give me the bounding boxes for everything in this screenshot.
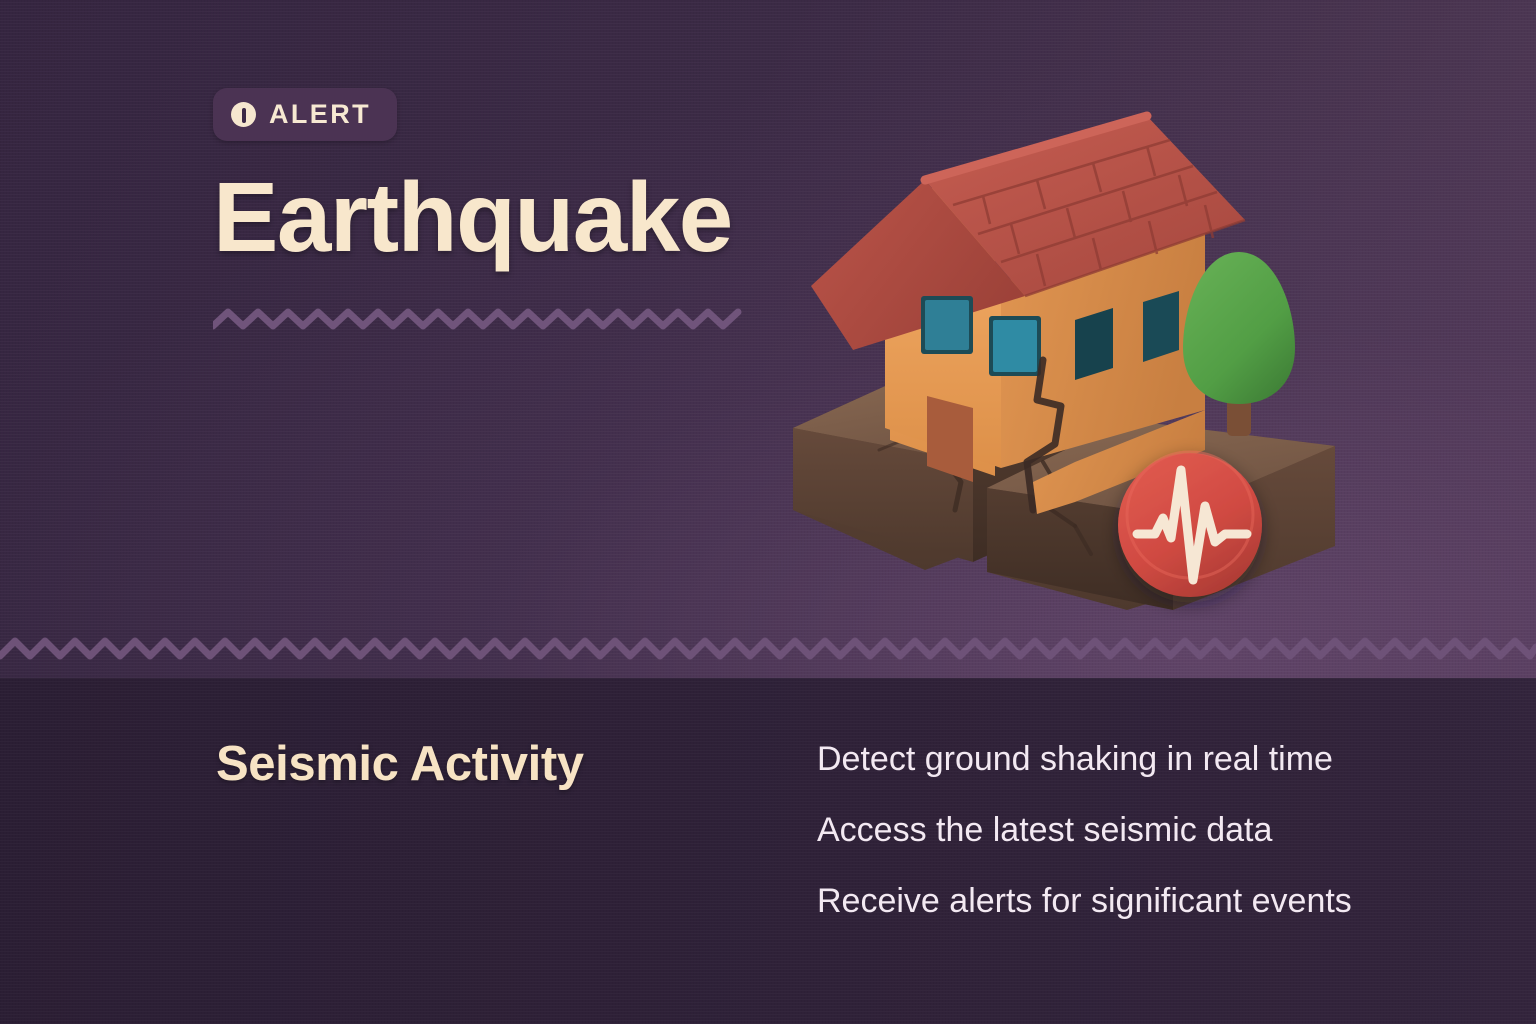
window-side-right [1143,291,1179,362]
feature-list: Detect ground shaking in real time Acces… [817,742,1477,955]
hero-panel: ALERT Earthquake [0,0,1536,678]
list-item: Access the latest seismic data [817,813,1477,847]
list-item: Receive alerts for significant events [817,884,1477,918]
alert-exclamation-icon [231,102,256,127]
headline-zigzag-divider [213,306,743,334]
alert-badge[interactable]: ALERT [213,88,397,141]
earthquake-illustration [775,110,1395,630]
page-title: Earthquake [213,166,732,270]
earthquake-alert-card: ALERT Earthquake [0,0,1536,1024]
section-title: Seismic Activity [216,736,584,792]
alert-badge-label: ALERT [269,99,371,130]
seismic-waveform-badge[interactable] [1118,452,1262,597]
list-item: Detect ground shaking in real time [817,742,1477,776]
section-zigzag-divider [0,632,1536,666]
window-side-left [1075,308,1113,380]
